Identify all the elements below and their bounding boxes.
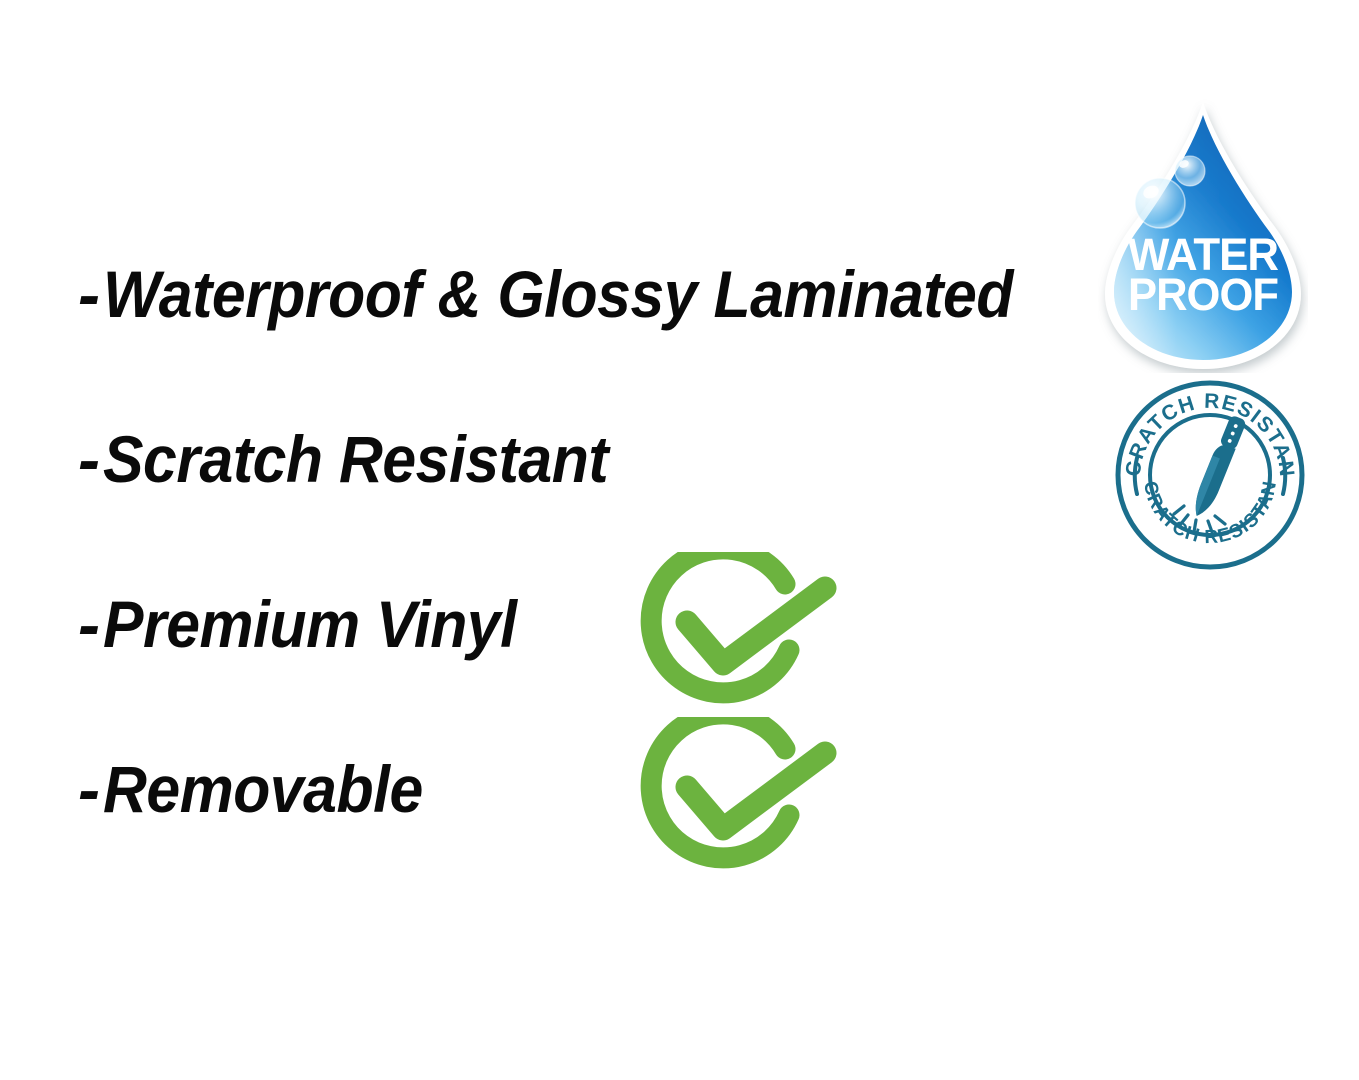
promo-feature-graphic: - Waterproof & Glossy Laminated - Scratc… (0, 0, 1359, 1080)
bullet-dash: - (78, 258, 99, 330)
scratch-resistant-badge: SCRATCH RESISTANT SCRATCH RESISTANT (1112, 378, 1308, 572)
bubble-small-icon (1175, 156, 1205, 186)
feature-label: Waterproof & Glossy Laminated (103, 258, 1013, 330)
bullet-dash: - (78, 753, 99, 825)
feature-label: Premium Vinyl (103, 588, 517, 660)
knife-icon (1189, 414, 1247, 520)
bullet-dash: - (78, 423, 99, 495)
feature-label: Removable (103, 753, 423, 825)
feature-item-waterproof: - Waterproof & Glossy Laminated (78, 258, 1093, 330)
check-stroke (687, 753, 825, 829)
feature-label: Scratch Resistant (103, 423, 608, 495)
feature-item-removable: - Removable (78, 753, 451, 825)
bubble-large-icon (1135, 178, 1185, 228)
water-drop-icon: WATER PROOF (1098, 98, 1308, 373)
knife-stamp-icon: SCRATCH RESISTANT SCRATCH RESISTANT (1112, 378, 1308, 572)
waterproof-badge: WATER PROOF (1098, 98, 1308, 373)
waterproof-line2: PROOF (1128, 269, 1278, 320)
check-circle-icon (638, 552, 838, 712)
feature-item-premium-vinyl: - Premium Vinyl (78, 588, 553, 660)
bullet-dash: - (78, 588, 99, 660)
check-circle-2 (638, 717, 838, 877)
feature-list: - Waterproof & Glossy Laminated - Scratc… (0, 0, 1100, 1080)
check-circle-icon (638, 717, 838, 877)
check-circle-1 (638, 552, 838, 712)
check-stroke (687, 588, 825, 664)
feature-item-scratch-resistant: - Scratch Resistant (78, 423, 653, 495)
